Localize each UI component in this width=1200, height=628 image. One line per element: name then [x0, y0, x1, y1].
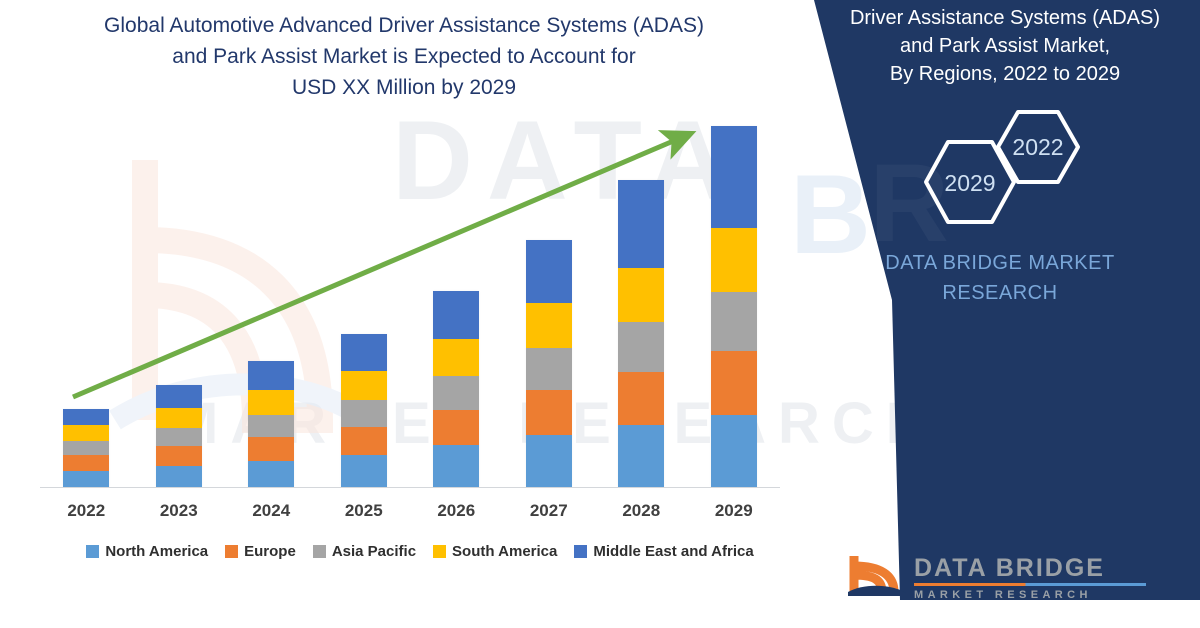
infographic-page: DATA BRIDGE MARKET RESEARCH Global Autom…	[0, 0, 1200, 600]
legend-label: Asia Pacific	[332, 543, 416, 560]
logo-line-2: MARKET RESEARCH	[914, 589, 1164, 601]
logo-bridge-icon	[848, 552, 906, 596]
logo-text: DATA BRIDGE MARKET RESEARCH	[914, 554, 1164, 601]
bar-column-2022	[41, 120, 131, 487]
bar-segment	[433, 410, 479, 446]
stacked-bar	[63, 409, 109, 487]
x-axis-label-2023: 2023	[134, 501, 224, 521]
bar-segment	[526, 390, 572, 435]
stacked-bar	[248, 361, 294, 487]
year-hexagons: 2022 2029	[900, 106, 1110, 226]
panel-title: Driver Assistance Systems (ADAS) and Par…	[820, 4, 1190, 88]
bar-segment	[248, 390, 294, 414]
stacked-bar	[618, 180, 664, 487]
panel-title-line-2: and Park Assist Market,	[820, 32, 1190, 60]
bar-segment	[156, 446, 202, 465]
legend-swatch	[86, 545, 99, 558]
legend-label: South America	[452, 543, 557, 560]
x-axis-labels: 20222023202420252026202720282029	[40, 496, 780, 526]
bar-segment	[711, 126, 757, 228]
bar-segment	[63, 425, 109, 441]
bar-column-2024	[226, 120, 316, 487]
x-axis-label-2027: 2027	[504, 501, 594, 521]
bar-segment	[526, 303, 572, 349]
x-axis-label-2025: 2025	[319, 501, 409, 521]
bar-segment	[618, 425, 664, 487]
bar-segment	[63, 471, 109, 487]
company-logo: DATA BRIDGE MARKET RESEARCH	[848, 552, 1168, 600]
panel-brand-line-2: RESEARCH	[830, 278, 1170, 308]
bar-segment	[341, 400, 387, 427]
legend-swatch	[574, 545, 587, 558]
bar-column-2026	[411, 120, 501, 487]
hexagon-2029-label: 2029	[944, 170, 995, 196]
hexagon-2022-label: 2022	[1012, 134, 1063, 160]
bar-segment	[618, 268, 664, 322]
bar-segment	[433, 291, 479, 339]
bar-segment	[156, 428, 202, 446]
title-line-3: USD XX Million by 2029	[24, 72, 784, 103]
bar-segment	[341, 427, 387, 456]
page-title: Global Automotive Advanced Driver Assist…	[24, 10, 784, 103]
legend-label: Europe	[244, 543, 296, 560]
chart-legend: North AmericaEuropeAsia PacificSouth Ame…	[40, 538, 800, 564]
bar-segment	[526, 240, 572, 302]
logo-line-1: DATA BRIDGE	[914, 554, 1164, 582]
x-axis-label-2026: 2026	[411, 501, 501, 521]
bar-segment	[248, 437, 294, 460]
bar-segment	[526, 435, 572, 487]
legend-item[interactable]: Middle East and Africa	[574, 543, 753, 560]
bar-segment	[341, 334, 387, 371]
right-panel: BR R Driver Assistance Systems (ADAS) an…	[800, 0, 1200, 600]
bar-segment	[156, 385, 202, 407]
title-line-2: and Park Assist Market is Expected to Ac…	[24, 41, 784, 72]
bar-chart-bars	[40, 120, 780, 487]
bar-segment	[526, 348, 572, 390]
bar-segment	[433, 445, 479, 487]
bar-segment	[248, 361, 294, 391]
stacked-bar	[711, 126, 757, 487]
legend-item[interactable]: South America	[433, 543, 557, 560]
bar-column-2029	[689, 120, 779, 487]
bar-segment	[156, 408, 202, 428]
legend-swatch	[313, 545, 326, 558]
legend-item[interactable]: North America	[86, 543, 208, 560]
bar-segment	[63, 409, 109, 425]
panel-title-line-3: By Regions, 2022 to 2029	[820, 60, 1190, 88]
x-axis-line	[40, 487, 780, 488]
legend-item[interactable]: Europe	[225, 543, 296, 560]
bar-segment	[63, 441, 109, 455]
title-line-1: Global Automotive Advanced Driver Assist…	[24, 10, 784, 41]
bar-segment	[618, 180, 664, 268]
hexagon-2029-shape: 2029	[926, 142, 1014, 222]
x-axis-label-2024: 2024	[226, 501, 316, 521]
stacked-bar	[156, 385, 202, 487]
bar-segment	[711, 292, 757, 351]
stacked-bar	[433, 291, 479, 487]
legend-item[interactable]: Asia Pacific	[313, 543, 416, 560]
bar-segment	[711, 228, 757, 292]
legend-swatch	[225, 545, 238, 558]
legend-label: Middle East and Africa	[593, 543, 753, 560]
bar-segment	[711, 415, 757, 487]
bar-segment	[156, 466, 202, 487]
bar-column-2025	[319, 120, 409, 487]
bar-segment	[63, 455, 109, 470]
panel-title-line-1: Driver Assistance Systems (ADAS)	[820, 4, 1190, 32]
bar-column-2028	[596, 120, 686, 487]
stacked-bar	[341, 334, 387, 487]
bar-segment	[248, 415, 294, 437]
legend-label: North America	[105, 543, 208, 560]
bar-segment	[341, 455, 387, 487]
bar-segment	[618, 322, 664, 372]
legend-swatch	[433, 545, 446, 558]
x-axis-label-2029: 2029	[689, 501, 779, 521]
bar-segment	[711, 351, 757, 414]
bar-segment	[341, 371, 387, 401]
bar-column-2027	[504, 120, 594, 487]
x-axis-label-2028: 2028	[596, 501, 686, 521]
bar-segment	[433, 376, 479, 410]
bar-segment	[618, 372, 664, 425]
bar-segment	[248, 461, 294, 488]
logo-divider	[914, 583, 1146, 586]
stacked-bar	[526, 240, 572, 487]
x-axis-label-2022: 2022	[41, 501, 131, 521]
bar-column-2023	[134, 120, 224, 487]
bar-segment	[433, 339, 479, 376]
